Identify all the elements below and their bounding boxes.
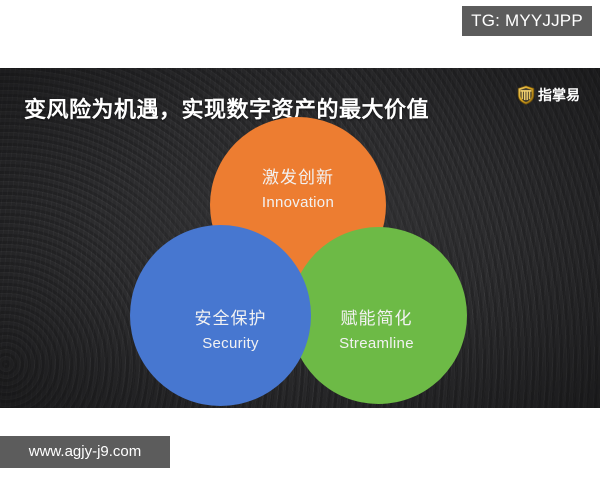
brand-logo: 指掌易 xyxy=(517,85,580,105)
url-watermark-badge: www.agjy-j9.com xyxy=(0,436,170,468)
venn-circle-streamline-title-en: Streamline xyxy=(339,335,414,352)
venn-circle-security-title-en: Security xyxy=(202,335,259,352)
venn-circle-innovation-title-cn: 激发创新 xyxy=(262,163,334,188)
venn-circle-security: 安全保护 Security xyxy=(130,225,311,406)
venn-circle-security-title-cn: 安全保护 xyxy=(195,304,267,329)
brand-name-label: 指掌易 xyxy=(538,85,580,105)
venn-circle-innovation-title-en: Innovation xyxy=(262,194,334,211)
slide-headline: 变风险为机遇，实现数字资产的最大价值 xyxy=(24,92,429,124)
tg-handle-badge: TG: MYYJJPP xyxy=(462,6,592,36)
shield-icon xyxy=(517,85,535,105)
venn-circle-streamline: 赋能简化 Streamline xyxy=(290,227,467,404)
venn-circle-streamline-title-cn: 赋能简化 xyxy=(341,304,413,329)
